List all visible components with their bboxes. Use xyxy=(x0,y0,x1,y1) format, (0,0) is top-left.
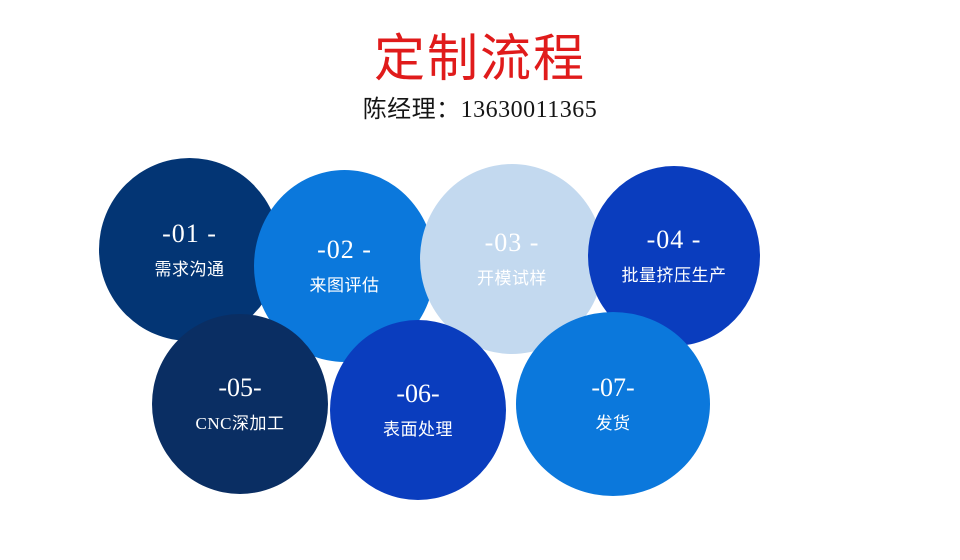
contact-subtitle: 陈经理：13630011365 xyxy=(0,89,960,125)
process-node-07-number: -07- xyxy=(591,373,634,403)
process-node-02-number: -02 - xyxy=(317,235,372,265)
process-node-02-label: 来图评估 xyxy=(310,275,380,297)
process-node-05[interactable]: -05- CNC深加工 xyxy=(152,314,328,494)
process-node-04-label: 批量挤压生产 xyxy=(622,265,727,287)
process-node-05-label: CNC深加工 xyxy=(196,413,285,435)
process-node-07[interactable]: -07- 发货 xyxy=(516,312,710,496)
process-node-01-label: 需求沟通 xyxy=(155,259,225,281)
slide-header: 定制流程 陈经理：13630011365 xyxy=(0,0,960,125)
process-node-03-number: -03 - xyxy=(485,228,540,258)
process-node-01-number: -01 - xyxy=(162,219,217,249)
process-node-04-number: -04 - xyxy=(647,225,702,255)
process-node-07-label: 发货 xyxy=(596,413,631,435)
process-node-05-number: -05- xyxy=(218,373,261,403)
process-node-06[interactable]: -06- 表面处理 xyxy=(330,320,506,500)
process-node-01[interactable]: -01 - 需求沟通 xyxy=(99,158,280,341)
process-node-06-number: -06- xyxy=(396,379,439,409)
slide-canvas: 定制流程 陈经理：13630011365 -01 - 需求沟通 -02 - 来图… xyxy=(0,0,960,560)
process-node-06-label: 表面处理 xyxy=(383,419,453,441)
page-title: 定制流程 xyxy=(0,0,960,89)
process-node-03-label: 开模试样 xyxy=(477,268,547,290)
